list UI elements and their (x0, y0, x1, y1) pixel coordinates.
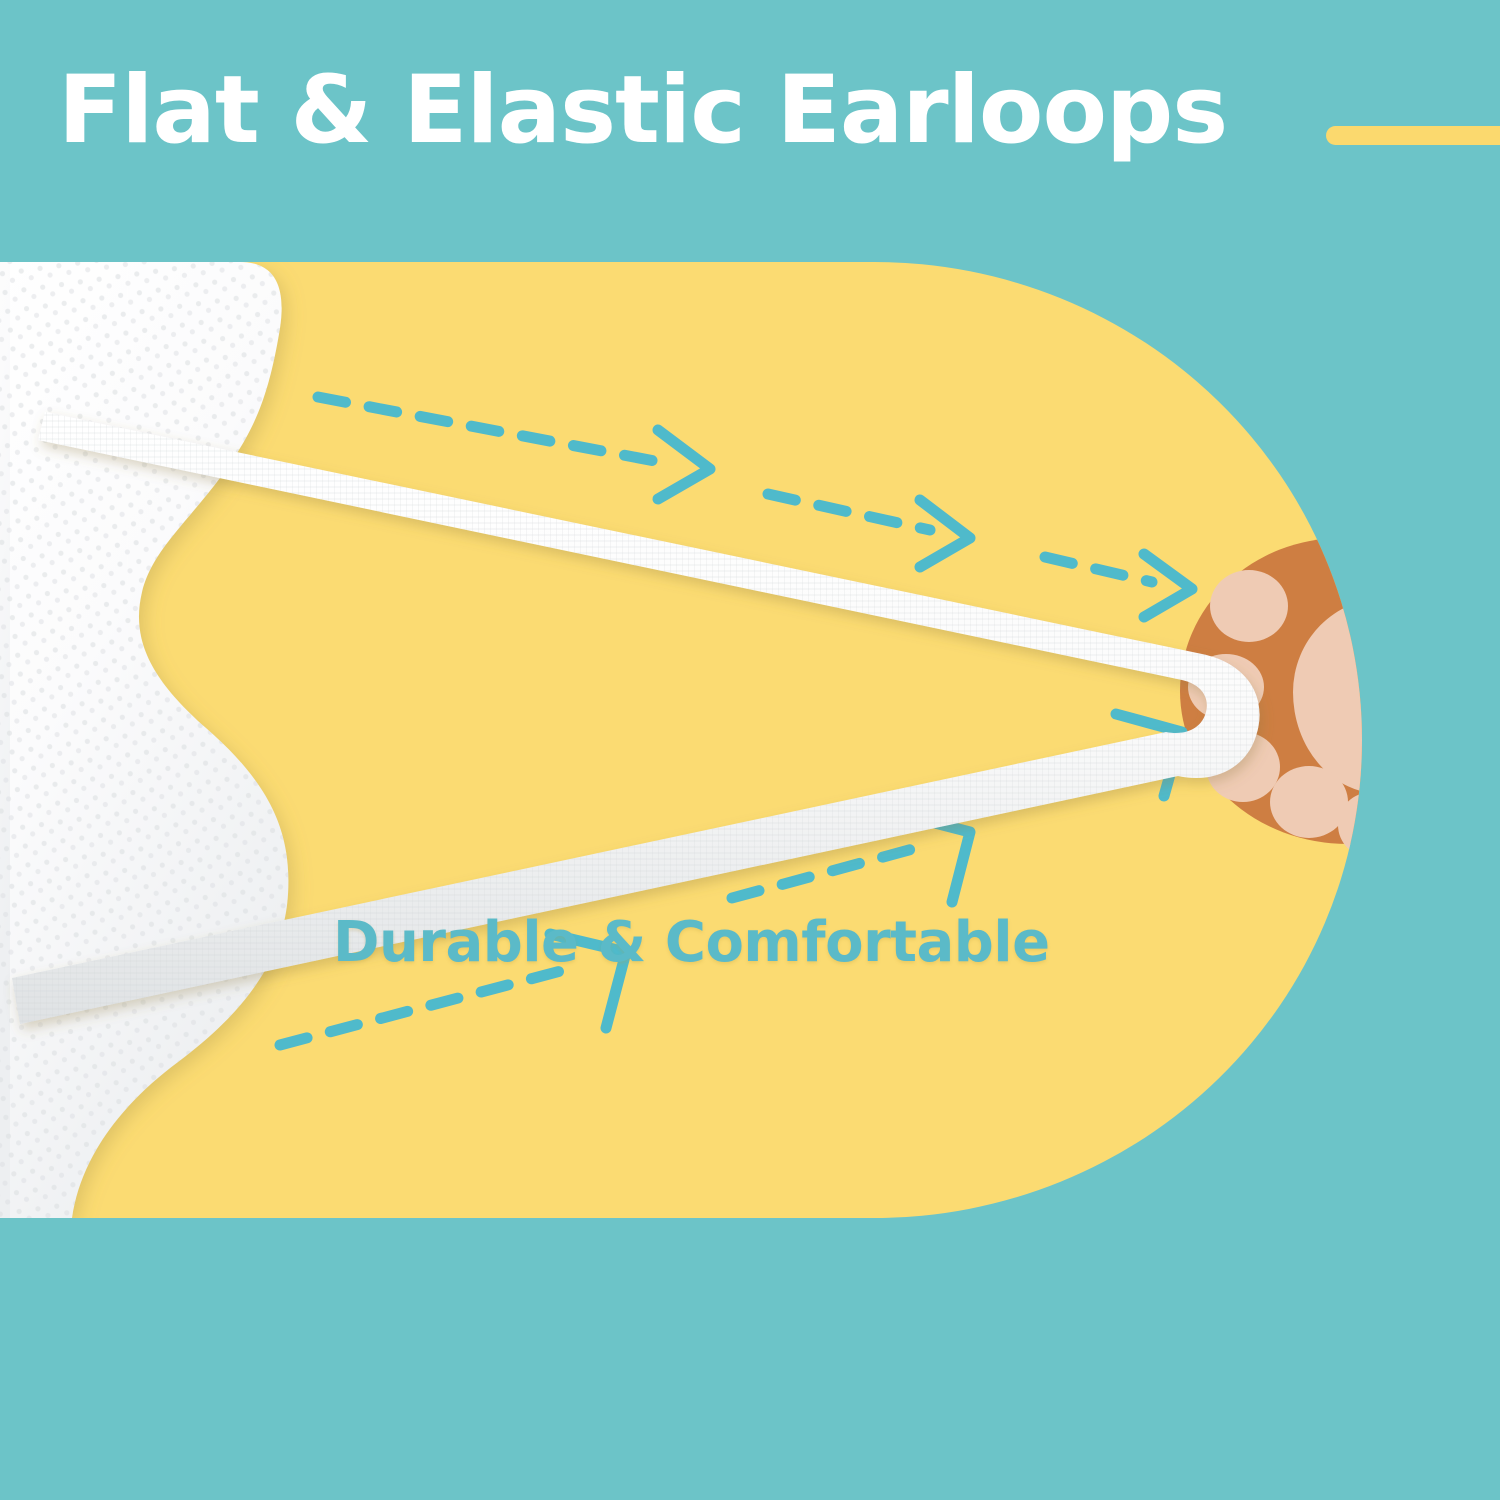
page-title: Flat & Elastic Earloops (58, 62, 1227, 161)
main-caption: Durable & Comfortable (333, 910, 1050, 975)
yellow-panel: Durable & Comfortable (0, 262, 1362, 1218)
header-band: Flat & Elastic Earloops (0, 0, 1500, 262)
footer-band: Designed to Withstand Repeated Pulling &… (0, 1218, 1500, 1500)
main-illustration-band: Durable & Comfortable (0, 262, 1500, 1218)
face-mask-illustration (0, 262, 1362, 1218)
product-infographic: Flat & Elastic Earloops (0, 0, 1500, 1500)
earloop-strap-group (0, 262, 1362, 1218)
header-accent-rule (1326, 126, 1500, 145)
